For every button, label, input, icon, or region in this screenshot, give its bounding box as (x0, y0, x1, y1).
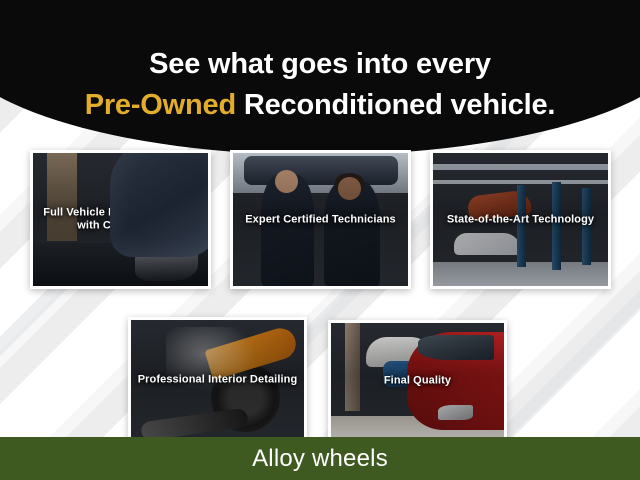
card-caption: Professional Interior Detailing (135, 373, 300, 387)
card-photo-professional-interior-detailing: Professional Interior Detailing (131, 320, 304, 439)
headline-highlight: Pre-Owned (85, 89, 236, 121)
feature-card-professional-interior-detailing[interactable]: Professional Interior Detailing (128, 317, 307, 442)
card-caption: Full Vehicle Inspection – Buy with Confi… (37, 206, 204, 233)
feature-card-full-vehicle-inspection[interactable]: Full Vehicle Inspection – Buy with Confi… (30, 150, 211, 289)
card-photo-state-of-the-art-technology: State-of-the-Art Technology (433, 153, 608, 286)
card-caption: State-of-the-Art Technology (437, 213, 604, 227)
image-caption-bar: Alloy wheels (0, 437, 640, 480)
feature-card-state-of-the-art-technology[interactable]: State-of-the-Art Technology (430, 150, 611, 289)
card-caption: Final Quality (335, 374, 500, 388)
caption-text: Alloy wheels (252, 446, 388, 472)
feature-card-expert-certified-technicians[interactable]: Expert Certified Technicians (230, 150, 411, 289)
card-photo-expert-certified-technicians: Expert Certified Technicians (233, 153, 408, 286)
headline-line-2: Pre-Owned Reconditioned vehicle. (0, 87, 640, 123)
card-photo-full-vehicle-inspection: Full Vehicle Inspection – Buy with Confi… (33, 153, 208, 286)
card-photo-final-quality: Final Quality (331, 323, 504, 439)
headline-line-1: See what goes into every (149, 48, 491, 80)
feature-card-final-quality[interactable]: Final Quality (328, 320, 507, 442)
headline-line-2-rest: Reconditioned vehicle. (236, 89, 555, 121)
page-title: See what goes into every Pre-Owned Recon… (0, 46, 640, 123)
card-caption: Expert Certified Technicians (237, 213, 404, 227)
vehicle-reconditioning-infographic: See what goes into every Pre-Owned Recon… (0, 0, 640, 480)
